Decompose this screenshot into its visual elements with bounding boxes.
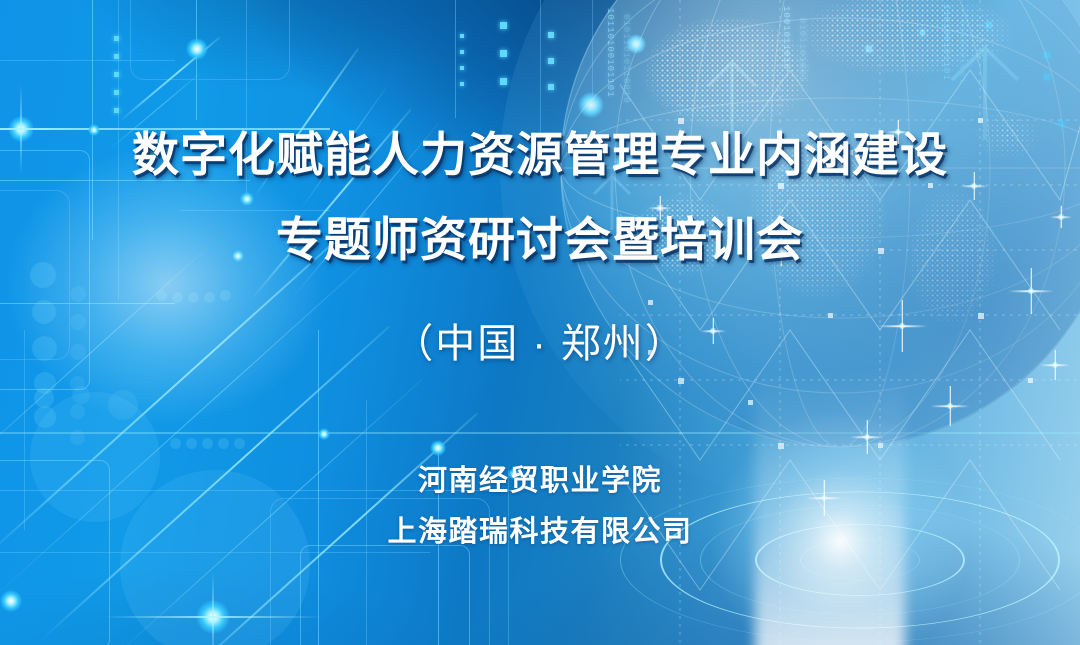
banner-title-line-2: 专题师资研讨会暨培训会 [276, 216, 804, 263]
conference-banner: 10110100101101 01011010110010 1001011010… [0, 0, 1080, 645]
banner-location: （中国 · 郑州） [393, 311, 687, 369]
banner-text-block: 数字化赋能人力资源管理专业内涵建设 专题师资研讨会暨培训会 （中国 · 郑州） … [0, 0, 1080, 645]
banner-title-line-1: 数字化赋能人力资源管理专业内涵建设 [132, 131, 948, 178]
organizer-line-1: 河南经贸职业学院 [418, 467, 662, 496]
organizer-line-2: 上海踏瑞科技有限公司 [387, 518, 692, 547]
